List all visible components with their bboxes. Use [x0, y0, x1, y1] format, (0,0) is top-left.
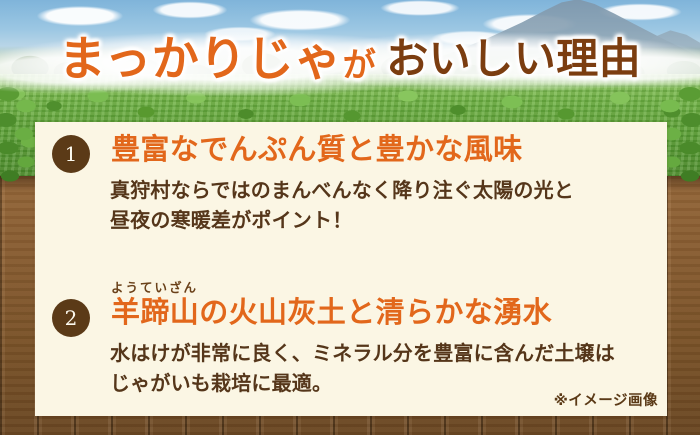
reasons-card: 1 豊富なでんぷん質と豊かな風味 真狩村ならではのまんべんなく降り注ぐ太陽の光と…: [35, 122, 667, 416]
reason-body-1: 真狩村ならではのまんべんなく降り注ぐ太陽の光と 昼夜の寒暖差がポイント！: [110, 175, 652, 235]
reason-number-badge-1: 1: [52, 135, 90, 173]
image-disclaimer-note: ※イメージ画像: [554, 389, 658, 410]
reason-heading-2-furigana: ようていざん: [111, 277, 198, 296]
headline: まっかりじゃ が おいしい理由: [0, 26, 700, 92]
left-foliage: [0, 86, 40, 191]
poster: まっかりじゃ が おいしい理由 1 豊富なでんぷん質と豊かな風味 真狩村ならでは…: [0, 0, 700, 435]
reason-body-1-line-1: 真狩村ならではのまんべんなく降り注ぐ太陽の光と: [110, 175, 652, 205]
headline-main-text: まっかりじゃ: [59, 36, 342, 83]
reason-item-1: 1 豊富なでんぷん質と豊かな風味 真狩村ならではのまんべんなく降り注ぐ太陽の光と…: [52, 131, 652, 235]
reason-heading-1: 豊富なでんぷん質と豊かな風味: [111, 131, 652, 168]
reason-body-2-line-1: 水はけが非常に良く、ミネラル分を豊富に含んだ土壌は: [110, 338, 652, 368]
headline-tail-text: おいしい理由: [378, 38, 641, 80]
reason-number-badge-2: 2: [52, 299, 90, 337]
headline-particle-ga: が: [342, 48, 379, 81]
reason-heading-2: 羊蹄山の火山灰土と清らかな湧水: [111, 294, 652, 331]
reason-item-2: 2 ようていざん 羊蹄山の火山灰土と清らかな湧水 水はけが非常に良く、ミネラル分…: [52, 277, 652, 398]
reason-body-1-line-2: 昼夜の寒暖差がポイント！: [110, 205, 652, 235]
